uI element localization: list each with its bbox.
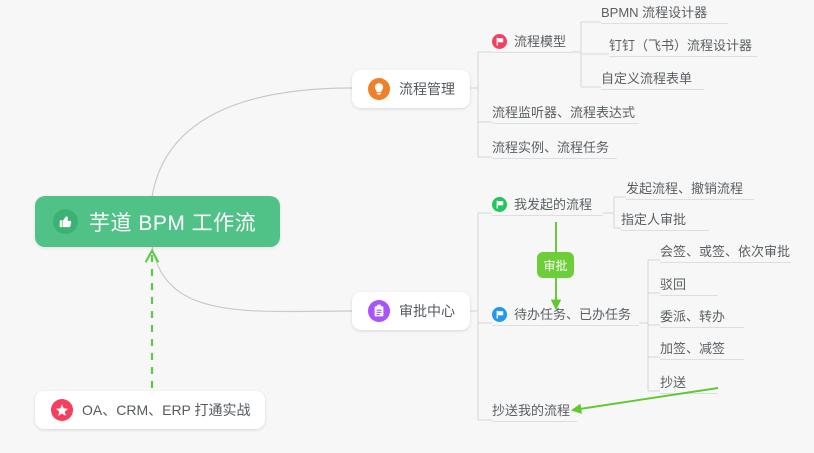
node-flow-listener[interactable]: 流程监听器、流程表达式: [492, 104, 639, 124]
node-integration-practice-label: OA、CRM、ERP 打通实战: [82, 400, 251, 420]
node-flow-model[interactable]: 流程模型: [492, 32, 572, 53]
node-flow-instance[interactable]: 流程实例、流程任务: [492, 139, 617, 159]
node-delegate-transfer[interactable]: 委派、转办: [660, 308, 744, 328]
node-start-cancel-flow-label: 发起流程、撤销流程: [626, 181, 743, 196]
node-add-remove-sign-label: 加签、减签: [660, 341, 725, 356]
node-approval-center-label: 审批中心: [399, 301, 455, 321]
node-add-remove-sign[interactable]: 加签、减签: [660, 340, 744, 360]
node-cc-to-me-flows-label: 抄送我的流程: [492, 403, 570, 418]
node-carbon-copy[interactable]: 抄送: [660, 374, 718, 394]
node-countersign-label: 会签、或签、依次审批: [660, 244, 790, 259]
node-assignee-approval-label: 指定人审批: [621, 212, 686, 227]
star-icon: [51, 399, 73, 421]
flag-icon: [492, 197, 507, 212]
flag-icon: [492, 307, 507, 322]
root-node-label: 芋道 BPM 工作流: [89, 207, 256, 237]
clipboard-icon: [368, 300, 390, 322]
root-node[interactable]: 芋道 BPM 工作流: [35, 196, 280, 247]
node-dingtalk-designer-label: 钉钉（飞书）流程设计器: [609, 38, 752, 53]
thumbs-up-icon: [53, 209, 78, 234]
node-flow-management-label: 流程管理: [399, 79, 455, 99]
node-carbon-copy-label: 抄送: [660, 375, 686, 390]
node-custom-form-label: 自定义流程表单: [601, 71, 692, 86]
node-todo-done-tasks-label: 待办任务、已办任务: [514, 307, 631, 322]
node-flow-model-label: 流程模型: [514, 34, 566, 49]
node-flow-listener-label: 流程监听器、流程表达式: [492, 105, 635, 120]
lightbulb-icon: [368, 78, 390, 100]
node-custom-form[interactable]: 自定义流程表单: [601, 70, 704, 90]
node-cc-to-me-flows[interactable]: 抄送我的流程: [492, 402, 577, 422]
node-start-cancel-flow[interactable]: 发起流程、撤销流程: [626, 180, 754, 200]
flag-icon: [492, 34, 507, 49]
node-bpmn-designer[interactable]: BPMN 流程设计器: [601, 4, 728, 24]
node-approval-center[interactable]: 审批中心: [352, 292, 470, 330]
node-integration-practice[interactable]: OA、CRM、ERP 打通实战: [35, 391, 265, 429]
approval-badge[interactable]: 审批: [537, 252, 574, 278]
node-reject[interactable]: 驳回: [660, 276, 718, 296]
node-assignee-approval[interactable]: 指定人审批: [621, 211, 709, 231]
approval-badge-label: 审批: [543, 257, 567, 274]
node-flow-management[interactable]: 流程管理: [352, 70, 470, 108]
node-dingtalk-designer[interactable]: 钉钉（飞书）流程设计器: [609, 37, 757, 57]
mindmap-canvas: 芋道 BPM 工作流 流程管理 审批中心: [0, 0, 814, 453]
node-reject-label: 驳回: [660, 277, 686, 292]
node-my-started-flows[interactable]: 我发起的流程: [492, 195, 603, 216]
node-delegate-transfer-label: 委派、转办: [660, 309, 725, 324]
node-bpmn-designer-label: BPMN 流程设计器: [601, 5, 707, 20]
node-my-started-flows-label: 我发起的流程: [514, 197, 592, 212]
node-countersign[interactable]: 会签、或签、依次审批: [660, 243, 791, 263]
node-flow-instance-label: 流程实例、流程任务: [492, 140, 609, 155]
node-todo-done-tasks[interactable]: 待办任务、已办任务: [492, 305, 639, 326]
